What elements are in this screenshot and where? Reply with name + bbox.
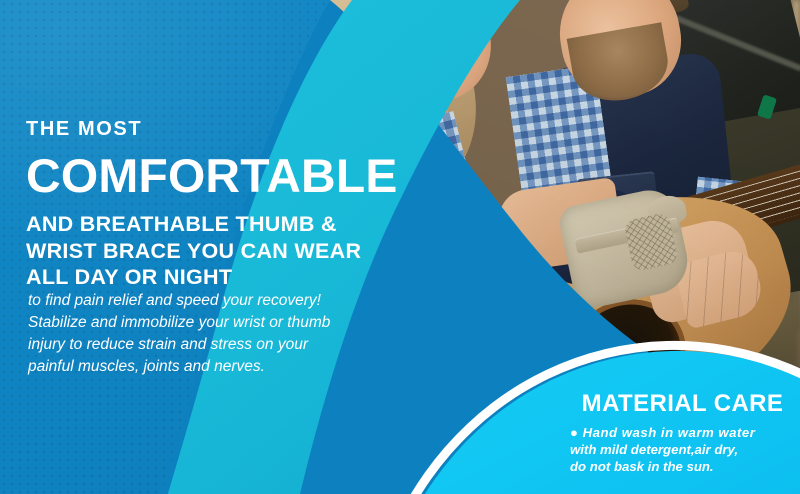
headline-sub-line-3: ALL DAY OR NIGHT — [26, 264, 426, 291]
material-care-line-3: do not bask in the sun. — [570, 458, 795, 475]
material-care-body: ● Hand wash in warm water with mild dete… — [570, 424, 795, 475]
headline-subline: AND BREATHABLE THUMB & WRIST BRACE YOU C… — [26, 211, 426, 291]
headline-sub-line-2: WRIST BRACE YOU CAN WEAR — [26, 238, 426, 265]
headline-emphasis: COMFORTABLE — [26, 152, 434, 199]
material-care-title: MATERIAL CARE — [570, 390, 795, 418]
body-line-3: injury to reduce strain and stress on yo… — [28, 334, 418, 356]
material-care-line-2: with mild detergent,air dry, — [570, 441, 795, 458]
headline-kicker: THE MOST — [26, 118, 426, 140]
promo-banner: THE MOST COMFORTABLE AND BREATHABLE THUM… — [0, 0, 800, 494]
headline-block: THE MOST COMFORTABLE AND BREATHABLE THUM… — [26, 118, 426, 291]
body-line-1: to find pain relief and speed your recov… — [28, 290, 418, 312]
body-copy: to find pain relief and speed your recov… — [28, 290, 418, 378]
material-care-block: MATERIAL CARE ● Hand wash in warm water … — [570, 390, 795, 475]
body-line-2: Stabilize and immobilize your wrist or t… — [28, 312, 418, 334]
body-line-4: painful muscles, joints and nerves. — [28, 356, 418, 378]
headline-sub-line-1: AND BREATHABLE THUMB & — [26, 211, 426, 238]
material-care-line-1: ● Hand wash in warm water — [570, 424, 795, 441]
